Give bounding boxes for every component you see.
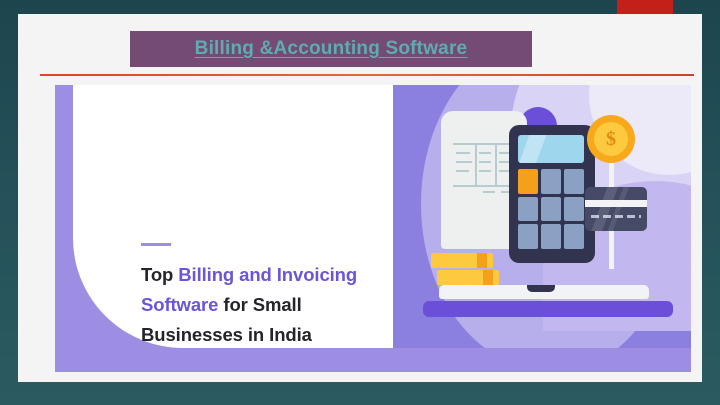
calculator-key bbox=[518, 169, 538, 194]
accent-dash bbox=[141, 243, 171, 246]
slide-screen: Billing &Accounting Software Top Billing… bbox=[0, 0, 720, 405]
calculator-key bbox=[541, 169, 561, 194]
receipt-table-lines bbox=[453, 143, 515, 187]
purple-shelf bbox=[423, 301, 673, 317]
title-banner: Billing &Accounting Software bbox=[130, 31, 532, 67]
calculator-key bbox=[518, 224, 538, 249]
headline-part-1: Top bbox=[141, 264, 178, 285]
illustration: $ bbox=[393, 85, 691, 348]
credit-card-icon bbox=[585, 187, 647, 231]
coin-inner: $ bbox=[594, 122, 628, 156]
dollar-sign-icon: $ bbox=[606, 128, 616, 151]
content-card: Top Billing and Invoicing Software for S… bbox=[55, 85, 691, 372]
headline-text: Top Billing and Invoicing Software for S… bbox=[141, 260, 391, 350]
calculator-key bbox=[518, 197, 538, 222]
calculator-key bbox=[564, 197, 584, 222]
money-band bbox=[477, 253, 487, 268]
white-panel: Top Billing and Invoicing Software for S… bbox=[73, 85, 691, 348]
headline-block: Top Billing and Invoicing Software for S… bbox=[141, 243, 391, 350]
calculator-key bbox=[541, 224, 561, 249]
calculator-screen bbox=[518, 135, 584, 163]
calculator-key bbox=[564, 169, 584, 194]
divider-rule bbox=[40, 74, 694, 76]
money-band bbox=[483, 270, 493, 285]
calculator-key bbox=[564, 224, 584, 249]
page-title: Billing &Accounting Software bbox=[195, 38, 468, 60]
calculator-key bbox=[541, 197, 561, 222]
laptop-notch bbox=[527, 285, 555, 292]
calculator-keys bbox=[518, 169, 584, 249]
slide-sheet: Billing &Accounting Software Top Billing… bbox=[18, 14, 702, 382]
